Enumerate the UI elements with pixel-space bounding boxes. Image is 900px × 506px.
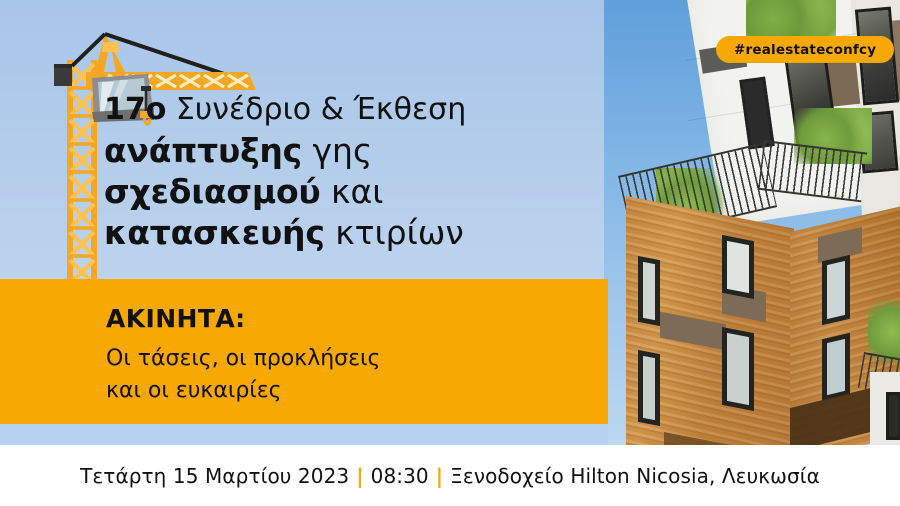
title-edition-number: 17ο [104,92,166,127]
photo-far-window [886,392,900,440]
title-line-2: ανάπτυξης γης [104,134,574,167]
footer-separator-1: | [349,464,370,488]
footer-separator-2: | [429,464,450,488]
photo-window-wood-2 [638,350,660,426]
hashtag-badge: #realestateconfcy [716,36,894,63]
band-subtitle-line-2: και οι ευκαιρίες [106,375,576,407]
footer-details: Τετάρτη 15 Μαρτίου 2023|08:30|Ξενοδοχείο… [80,464,820,488]
photo-window-wood-1 [638,256,660,326]
photo-window-wood-4 [722,327,754,411]
poster-title: 17ο Συνέδριο & Έκθεση ανάπτυξης γης σχεδ… [104,95,574,257]
title-line-4-rest: κτιρίων [325,213,464,252]
photo-window-wood-5 [822,255,850,325]
title-line-4: κατασκευής κτιρίων [104,216,574,249]
band-content: ΑΚΙΝΗΤΑ: Οι τάσεις, οι προκλήσεις και οι… [106,304,576,407]
title-line-1: 17ο Συνέδριο & Έκθεση [104,95,574,125]
title-line-3: σχεδιασμού και [104,175,574,208]
footer-date: Τετάρτη 15 Μαρτίου 2023 [80,464,349,488]
footer-venue: Ξενοδοχείο Hilton Nicosia, Λευκωσία [450,464,820,488]
photo-window-wood-6 [822,333,850,401]
yellow-subtitle-band: ΑΚΙΝΗΤΑ: Οι τάσεις, οι προκλήσεις και οι… [0,279,608,424]
title-line-2-rest: γης [302,131,372,170]
title-line-3-rest: και [321,172,384,211]
apartment-building-photo [604,0,900,446]
poster-footer: Τετάρτη 15 Μαρτίου 2023|08:30|Ξενοδοχείο… [0,445,900,506]
title-line-1-rest: Συνέδριο & Έκθεση [166,92,466,127]
title-line-3-bold: σχεδιασμού [104,172,321,211]
title-line-2-bold: ανάπτυξης [104,131,302,170]
footer-time: 08:30 [371,464,429,488]
band-subtitle-line-1: Οι τάσεις, οι προκλήσεις [106,343,576,375]
event-poster: #realestateconfcy [0,0,900,506]
band-heading: ΑΚΙΝΗΤΑ: [106,304,576,333]
photo-window-wood-3 [722,235,754,299]
light-blue-strip [0,424,608,445]
photo-rooftop-greenery [746,0,836,40]
title-line-4-bold: κατασκευής [104,213,325,252]
